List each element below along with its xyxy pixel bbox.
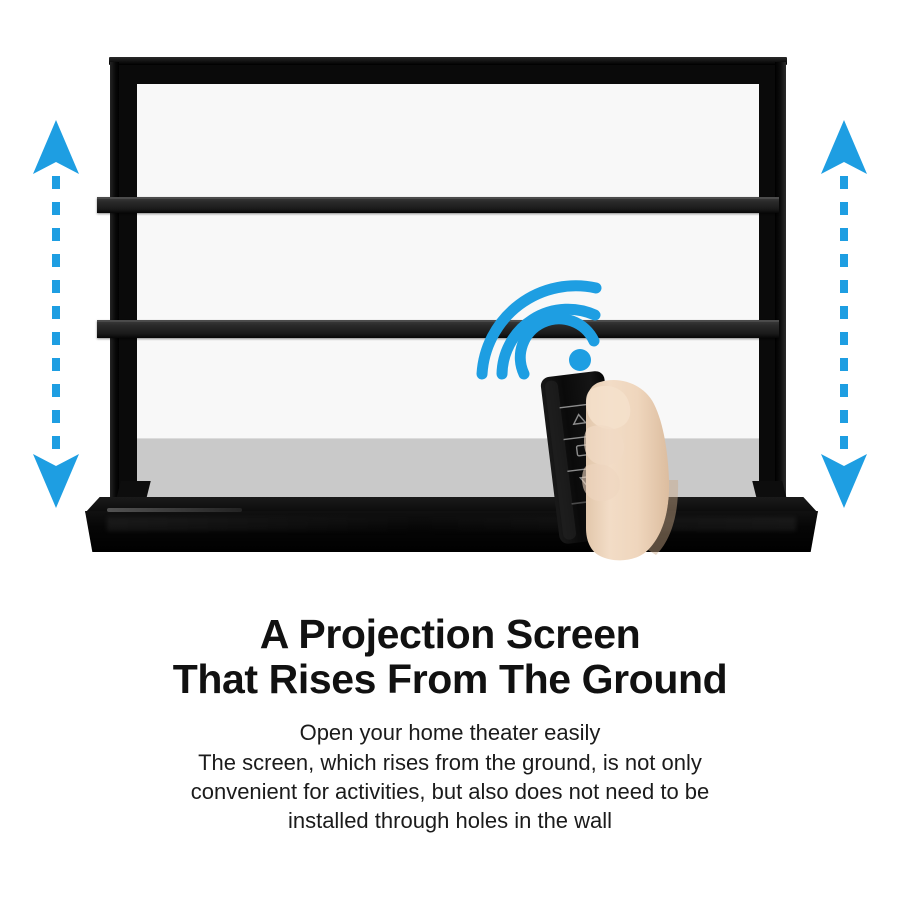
hand <box>582 380 669 560</box>
wifi-signal-icon <box>476 278 606 380</box>
subcopy-line-3: convenient for activities, but also does… <box>0 777 900 806</box>
upper-tension-bar <box>97 197 779 213</box>
headline-line-1: A Projection Screen <box>260 611 641 657</box>
headline-line-2: That Rises From The Ground <box>0 657 900 702</box>
right-arrow-head-down <box>821 454 867 508</box>
frame-left-rail <box>110 62 119 514</box>
left-arrow-head-up <box>33 120 79 174</box>
caption-block: A Projection Screen That Rises From The … <box>0 612 900 835</box>
subcopy-line-2: The screen, which rises from the ground,… <box>0 748 900 777</box>
marketing-image-canvas: A Projection Screen That Rises From The … <box>0 0 900 900</box>
hand-holding-remote <box>528 368 728 563</box>
base-screen-slot <box>107 508 242 512</box>
frame-right-rail <box>775 62 786 514</box>
subcopy: Open your home theater easily The screen… <box>0 718 900 835</box>
product-photo <box>0 0 900 590</box>
right-motion-arrow <box>817 118 871 510</box>
subcopy-line-4: installed through holes in the wall <box>0 806 900 835</box>
lower-tension-bar-lip <box>97 320 779 322</box>
frame-top-cap <box>109 57 787 65</box>
left-motion-arrow <box>29 118 83 510</box>
upper-tension-bar-lip <box>97 197 779 199</box>
headline: A Projection Screen That Rises From The … <box>0 612 900 701</box>
left-arrow-head-down <box>33 454 79 508</box>
lower-tension-bar <box>97 320 779 338</box>
right-arrow-head-up <box>821 120 867 174</box>
subcopy-line-1: Open your home theater easily <box>0 718 900 747</box>
